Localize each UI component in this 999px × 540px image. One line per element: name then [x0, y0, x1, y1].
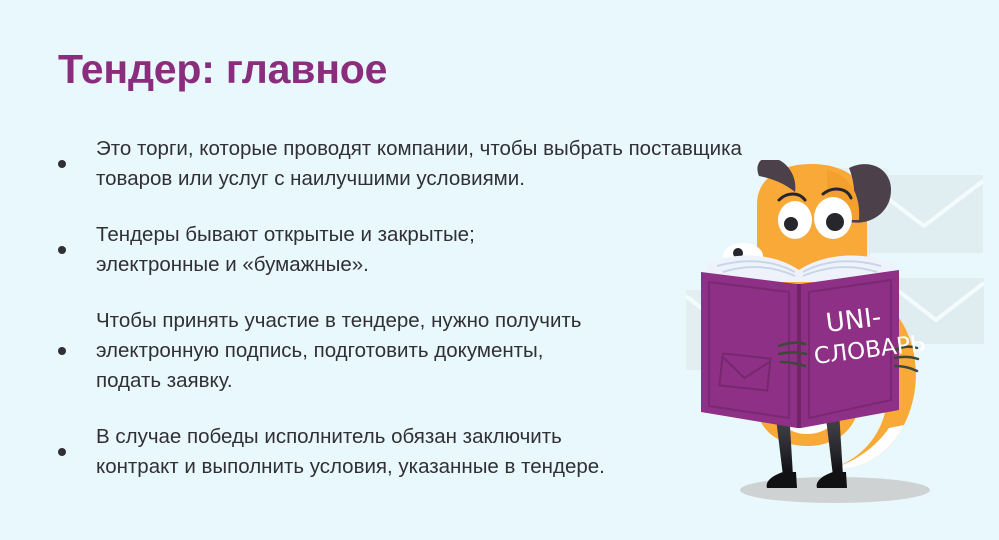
- list-item-text: В случае победы исполнитель обязан заклю…: [96, 422, 776, 482]
- fox-pupil-left: [784, 217, 798, 231]
- bullet-dot-icon: [58, 160, 66, 168]
- book-spine: [797, 284, 801, 428]
- fox-pupil-right: [826, 213, 844, 231]
- fox-reading-illustration: UNI- СЛОВАРЬ: [699, 160, 999, 540]
- list-item-text: Тендеры бывают открытые и закрытые; элек…: [96, 220, 736, 280]
- bullet-dot-icon: [58, 347, 66, 355]
- fox-foot-right: [817, 472, 847, 488]
- bullet-dot-icon: [58, 246, 66, 254]
- book-cover-left: [701, 272, 797, 428]
- fox-foot-left: [767, 472, 797, 488]
- bullet-dot-icon: [58, 448, 66, 456]
- page-title: Тендер: главное: [58, 46, 387, 93]
- list-item-text: Чтобы принять участие в тендере, нужно п…: [96, 306, 736, 396]
- slide-canvas: Тендер: главное Это торги, которые прово…: [0, 0, 999, 540]
